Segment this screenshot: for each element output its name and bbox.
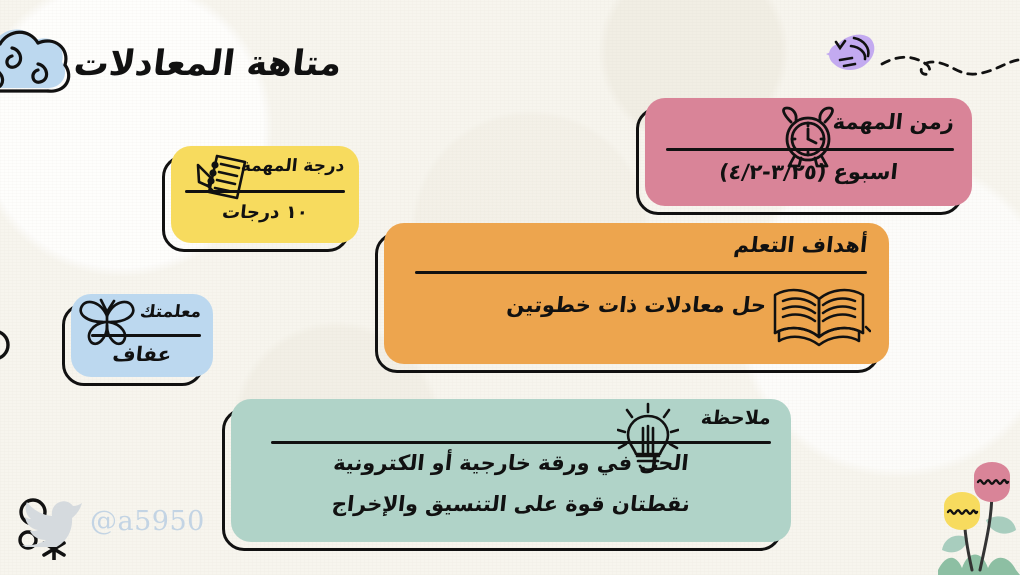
watermark-handle: @a5950 [90, 506, 205, 537]
card-learning-objectives: أهداف التعلم حل [375, 232, 880, 373]
page-title: متاهة المعادلات [72, 44, 344, 84]
header-rule [666, 148, 954, 151]
teacher-label: معلمتك [139, 302, 202, 322]
header-rule [415, 271, 867, 274]
card-header: زمن المهمة [833, 110, 954, 134]
card-content: ملاحظة الحل في ورقة خارجية أو الكترونية … [231, 399, 791, 542]
header-rule [185, 190, 345, 193]
task-time-value: اسبوع (٣/٢٥-٤/٢) [644, 160, 974, 184]
flying-bird-doodle [824, 28, 886, 78]
slide-canvas: متاهة المعادلات [0, 0, 1020, 575]
watermark: @a5950 [22, 495, 205, 547]
card-teacher: معلمتك عفاف [62, 303, 204, 386]
dashed-flight-trail [880, 50, 1020, 86]
note-line-1: الحل في ورقة خارجية أو الكترونية [230, 451, 793, 475]
butterfly-icon [77, 296, 137, 348]
card-header: أهداف التعلم [734, 233, 867, 257]
card-task-grade: درجة المهمة ١٠ درجات [162, 155, 350, 252]
card-content: معلمتك عفاف [71, 294, 213, 377]
tulip-flowers-doodle [938, 462, 1020, 575]
circle-doodle-left [0, 322, 18, 368]
task-grade-label: درجة المهمة [240, 156, 346, 176]
header-rule [271, 441, 771, 444]
card-header: معلمتك [140, 302, 201, 322]
card-header: درجة المهمة [241, 156, 345, 176]
card-note: ملاحظة الحل في ورقة خارجية أو الكترونية … [222, 408, 782, 551]
open-book-icon [767, 281, 871, 353]
cloud-doodle [0, 12, 84, 104]
twitter-bird-icon [22, 495, 84, 547]
task-time-label: زمن المهمة [832, 110, 956, 134]
card-task-time: زمن المهمة اسبوع (٣/٢٥-٤/٢) [636, 107, 963, 215]
note-label: ملاحظة [700, 407, 772, 429]
header-rule [91, 334, 201, 337]
task-grade-value: ١٠ درجات [170, 202, 360, 223]
note-line-2: نقطتان قوة على التنسيق والإخراج [230, 492, 793, 516]
card-content: درجة المهمة ١٠ درجات [171, 146, 359, 243]
learning-objectives-label: أهداف التعلم [732, 233, 868, 257]
card-header: ملاحظة [701, 407, 771, 429]
learning-objectives-value: حل معادلات ذات خطوتين [383, 293, 891, 317]
card-content: زمن المهمة اسبوع (٣/٢٥-٤/٢) [645, 98, 972, 206]
card-content: أهداف التعلم حل [384, 223, 889, 364]
teacher-value: عفاف [70, 342, 215, 366]
